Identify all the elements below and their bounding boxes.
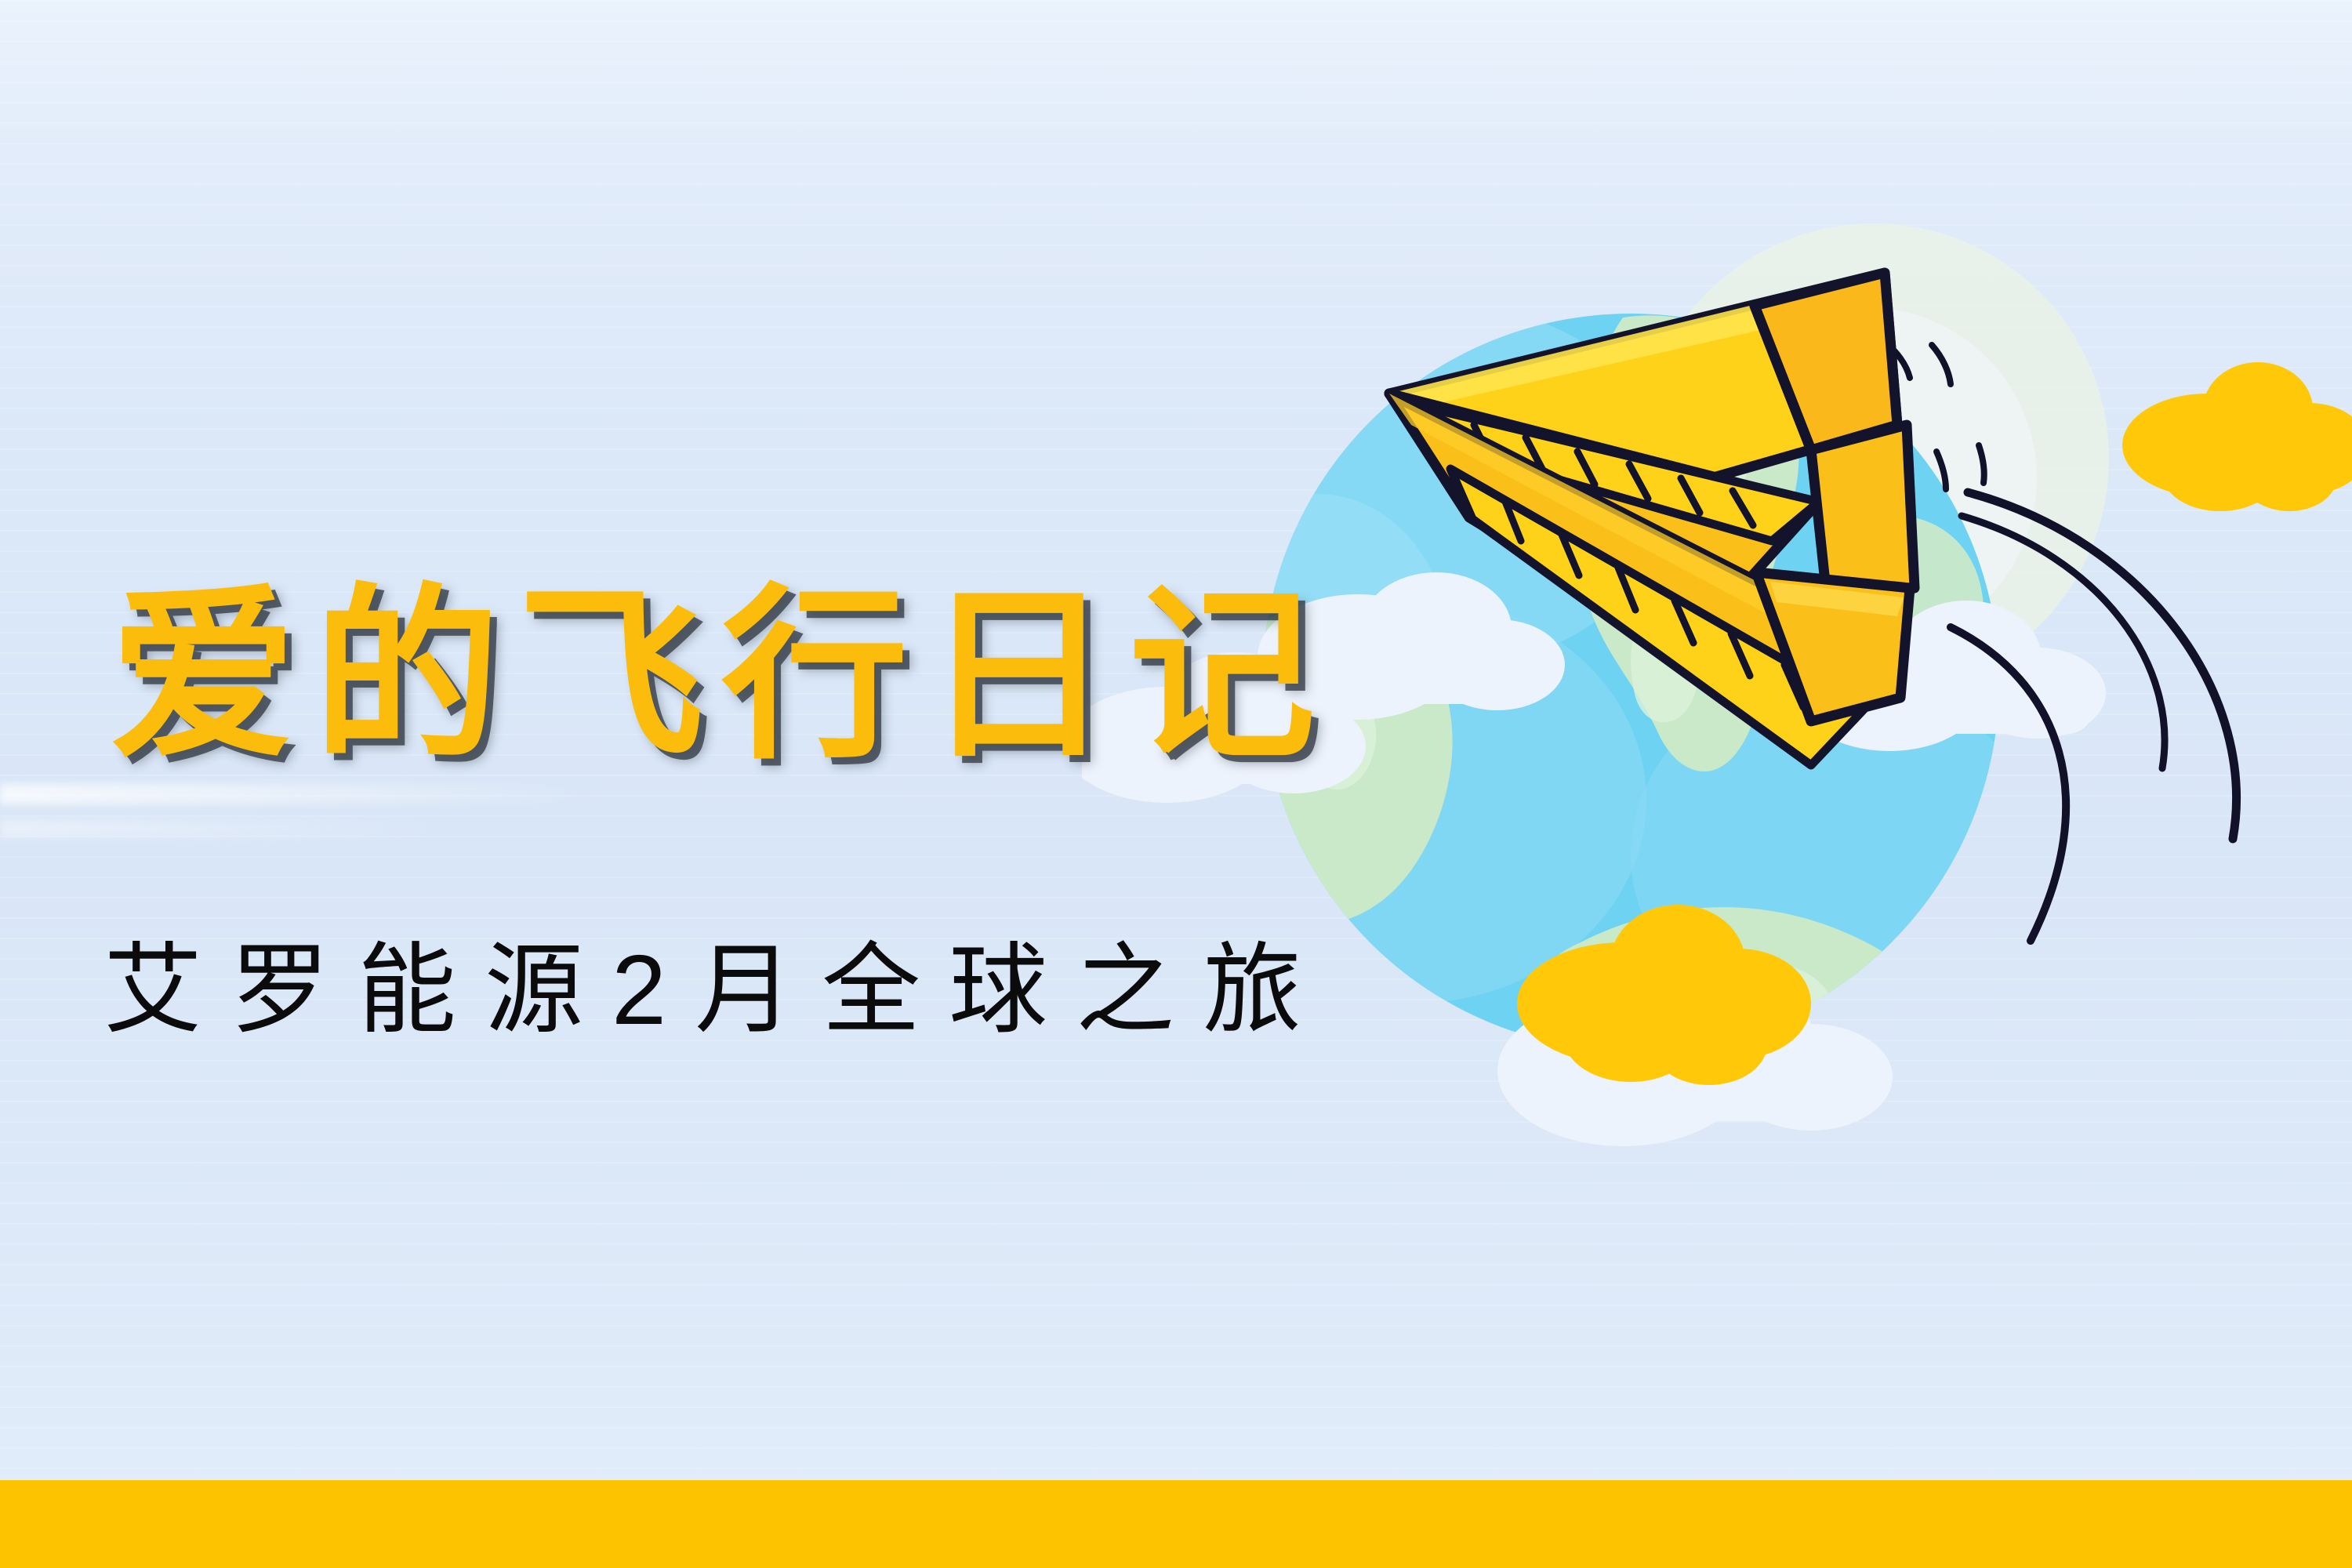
slide-canvas: 爱的飞行日记 艾罗能源2月全球之旅 [0,0,2352,1568]
page-title: 爱的飞行日记 [110,582,1333,772]
background-light-streak-secondary [0,820,439,837]
bottom-accent-bar [0,1480,2352,1568]
yellow-cloud-top-right [2122,362,2352,511]
page-subtitle: 艾罗能源2月全球之旅 [103,935,1330,1045]
background-light-streak [0,784,596,804]
